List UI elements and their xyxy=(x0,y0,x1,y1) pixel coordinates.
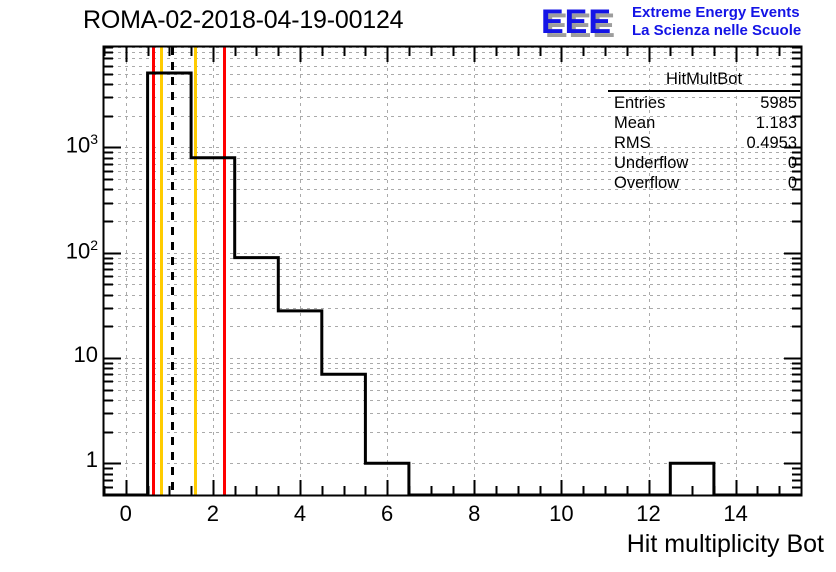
stats-row: Entries5985 xyxy=(608,93,800,113)
eee-logo: EEE EEE Extreme Energy Events La Scienza… xyxy=(536,2,836,42)
x-tick-label: 14 xyxy=(706,501,766,527)
stats-row-label: Overflow xyxy=(614,173,679,193)
page-title: ROMA-02-2018-04-19-00124 xyxy=(83,6,403,35)
stats-row-label: Entries xyxy=(614,93,665,113)
stats-row-value: 0.4953 xyxy=(747,133,797,153)
stats-row-value: 5985 xyxy=(760,93,797,113)
stats-row: RMS0.4953 xyxy=(608,133,800,153)
stats-row-value: 1.183 xyxy=(756,113,797,133)
y-tick-label: 103 xyxy=(66,131,98,158)
y-tick-label: 10 xyxy=(74,342,98,368)
x-tick-label: 8 xyxy=(444,501,504,527)
stats-row-value: 0 xyxy=(788,153,797,173)
stats-box-title: HitMultBot xyxy=(608,70,800,92)
stats-row-label: RMS xyxy=(614,133,651,153)
x-tick-label: 10 xyxy=(531,501,591,527)
eee-logo-mark: EEE xyxy=(541,5,612,39)
stats-row: Underflow0 xyxy=(608,153,800,173)
x-tick-label: 12 xyxy=(619,501,679,527)
y-tick-label: 1 xyxy=(86,447,98,473)
y-tick-label: 102 xyxy=(66,237,98,264)
x-tick-label: 2 xyxy=(183,501,243,527)
stats-row-label: Underflow xyxy=(614,153,688,173)
stats-row-label: Mean xyxy=(614,113,655,133)
eee-logo-line2: La Scienza nelle Scuole xyxy=(632,22,801,39)
stats-box: HitMultBot Entries5985Mean1.183RMS0.4953… xyxy=(608,70,800,193)
x-tick-label: 6 xyxy=(357,501,417,527)
stats-row-value: 0 xyxy=(788,173,797,193)
stats-row: Overflow0 xyxy=(608,173,800,193)
stats-box-rows: Entries5985Mean1.183RMS0.4953Underflow0O… xyxy=(608,93,800,193)
eee-logo-line1: Extreme Energy Events xyxy=(632,4,800,21)
stats-row: Mean1.183 xyxy=(608,113,800,133)
x-tick-label: 4 xyxy=(270,501,330,527)
x-axis-title: Hit multiplicity Bot xyxy=(627,530,824,559)
x-tick-label: 0 xyxy=(96,501,156,527)
